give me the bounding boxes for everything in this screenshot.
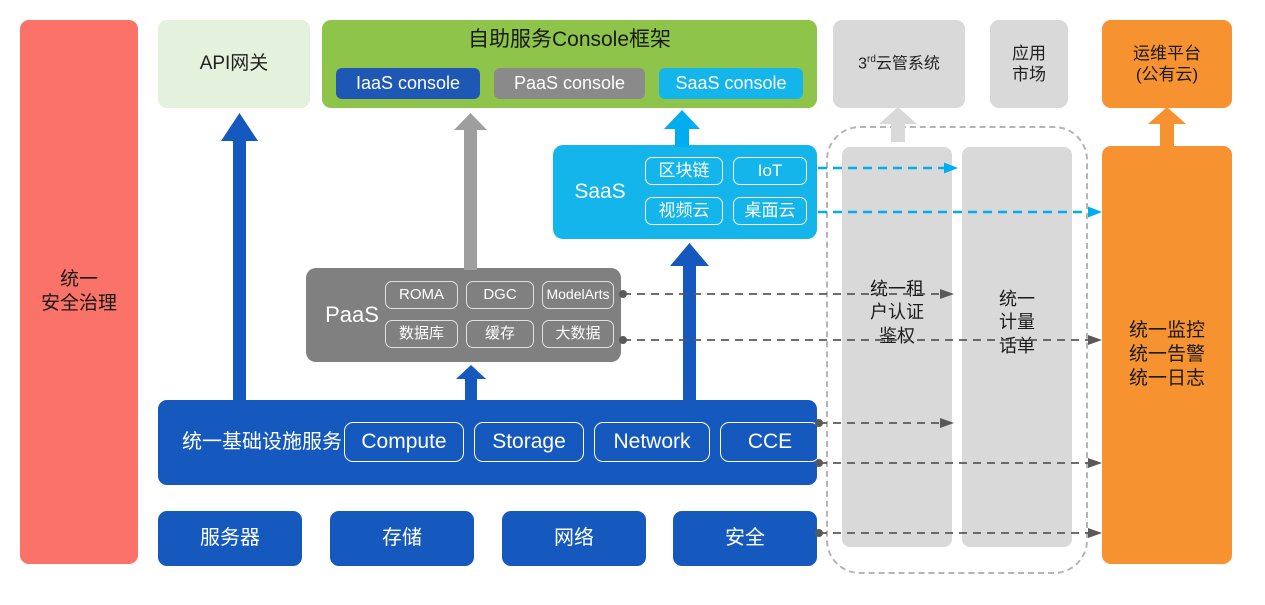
unified-infrastructure-panel: 统一基础设施服务 Compute Storage Network CCE	[158, 400, 817, 485]
saas-console-label: SaaS console	[675, 74, 786, 94]
saas-item-blockchain[interactable]: 区块链	[645, 157, 723, 185]
paas-layer-panel: PaaS ROMA DGC ModelArts 数据库 缓存 大数据	[306, 268, 621, 362]
paas-item-database[interactable]: 数据库	[385, 320, 458, 348]
arrow-iaas-to-paas	[456, 365, 486, 402]
hardware-item-storage: 存储	[330, 511, 474, 566]
iaas-item-network[interactable]: Network	[594, 422, 710, 462]
api-gateway-label: API网关	[200, 52, 269, 76]
shared-service-metering-label: 统一计量话单	[962, 288, 1072, 358]
paas-item-cache[interactable]: 缓存	[466, 320, 534, 348]
arrow-iaas-to-api-gateway	[221, 113, 258, 402]
iaas-item-compute[interactable]: Compute	[344, 422, 464, 462]
paas-item-modelarts[interactable]: ModelArts	[542, 281, 614, 309]
iaas-item-storage[interactable]: Storage	[474, 422, 584, 462]
app-market-label: 应用市场	[1012, 43, 1046, 86]
saas-item-video-cloud[interactable]: 视频云	[645, 197, 723, 225]
saas-console-pill[interactable]: SaaS console	[659, 68, 803, 99]
hardware-item-server: 服务器	[158, 511, 302, 566]
console-framework-panel: 自助服务Console框架 IaaS console PaaS console …	[322, 20, 817, 108]
hardware-item-network: 网络	[502, 511, 646, 566]
paas-item-bigdata[interactable]: 大数据	[542, 320, 614, 348]
arrow-into-ops-platform	[1148, 107, 1186, 146]
iaas-item-cce[interactable]: CCE	[720, 422, 820, 462]
ops-platform-box: 运维平台(公有云)	[1102, 20, 1232, 108]
app-market-box: 应用市场	[990, 20, 1068, 108]
saas-item-iot[interactable]: IoT	[733, 157, 807, 185]
paas-console-label: PaaS console	[514, 74, 625, 94]
arrow-iaas-to-saas	[670, 243, 709, 402]
paas-item-roma[interactable]: ROMA	[385, 281, 458, 309]
hardware-item-security: 安全	[673, 511, 817, 566]
architecture-diagram: 统一安全治理 API网关 自助服务Console框架 IaaS console …	[0, 0, 1265, 605]
arrow-paas-to-console	[454, 113, 487, 270]
saas-layer-label: SaaS	[565, 145, 635, 239]
third-party-cloud-mgmt-label: 3rd云管系统	[858, 54, 940, 74]
ops-platform-label: 运维平台(公有云)	[1133, 43, 1201, 86]
third-party-cloud-mgmt-box: 3rd云管系统	[833, 20, 965, 108]
console-framework-title: 自助服务Console框架	[322, 27, 817, 53]
ops-capability-label: 统一监控统一告警统一日志	[1129, 319, 1205, 390]
paas-console-pill[interactable]: PaaS console	[494, 68, 645, 99]
ops-capability-rail: 统一监控统一告警统一日志	[1102, 146, 1232, 564]
arrow-saas-to-saas-console	[664, 110, 700, 147]
api-gateway-box: API网关	[158, 20, 310, 108]
saas-layer-panel: SaaS 区块链 IoT 视频云 桌面云	[553, 145, 817, 239]
security-governance-label: 统一安全治理	[41, 268, 117, 316]
paas-layer-label: PaaS	[314, 268, 390, 362]
saas-item-desktop-cloud[interactable]: 桌面云	[733, 197, 807, 225]
paas-item-dgc[interactable]: DGC	[466, 281, 534, 309]
security-governance-panel: 统一安全治理	[20, 20, 138, 564]
shared-service-auth-label: 统一租户认证鉴权	[842, 278, 952, 348]
iaas-console-pill[interactable]: IaaS console	[336, 68, 480, 99]
iaas-console-label: IaaS console	[356, 74, 460, 94]
unified-infrastructure-label: 统一基础设施服务	[176, 400, 348, 485]
